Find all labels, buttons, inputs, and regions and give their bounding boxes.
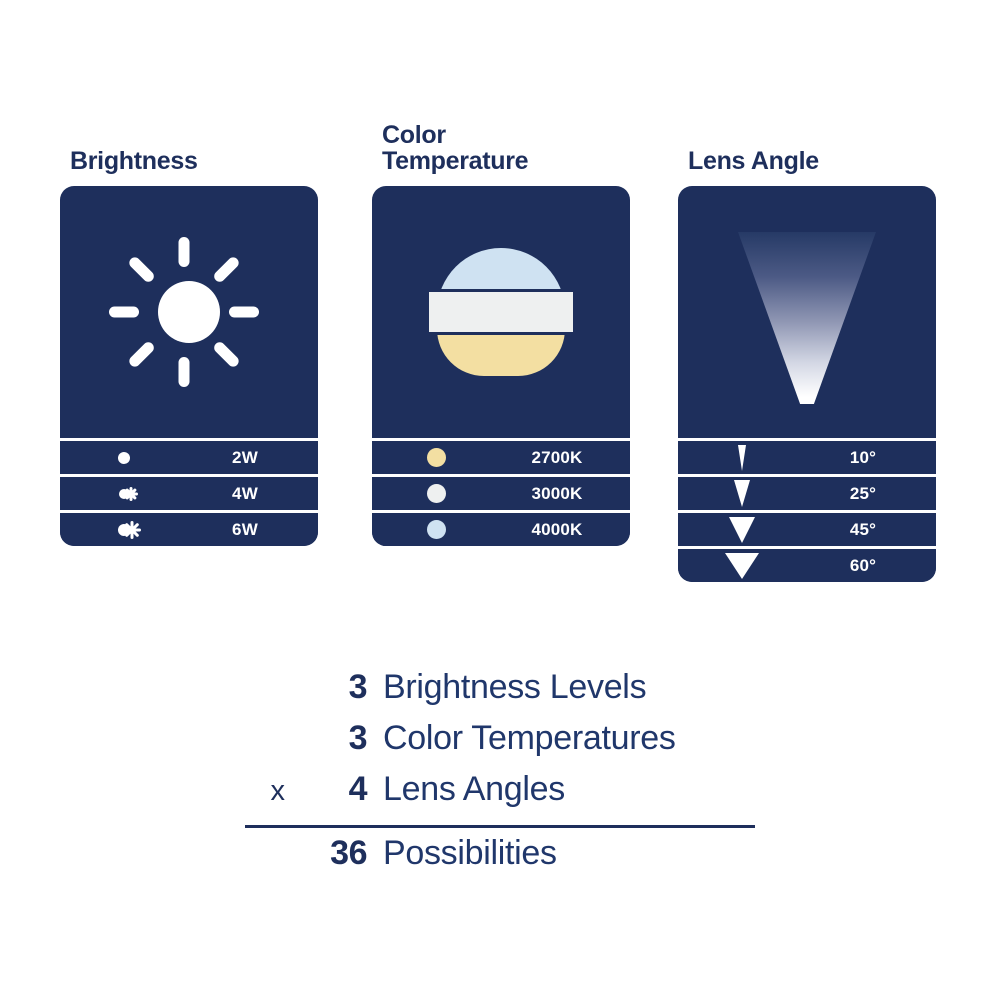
equation-total-number: 36 bbox=[293, 834, 367, 873]
swatch-cool-icon bbox=[372, 513, 500, 546]
table-row[interactable]: 2W bbox=[60, 438, 318, 474]
row-label: 2W bbox=[188, 448, 318, 468]
table-row[interactable]: 45° bbox=[678, 510, 936, 546]
equation-number: 3 bbox=[293, 668, 367, 707]
card-body-brightness: 2W bbox=[60, 186, 318, 546]
equation-line: 3 Brightness Levels bbox=[245, 668, 755, 719]
card-body-lens-angle: 10° 25° 45° bbox=[678, 186, 936, 582]
summary-equation: 3 Brightness Levels 3 Color Temperatures… bbox=[245, 668, 755, 885]
equation-total-line: 36 Possibilities bbox=[245, 834, 755, 885]
card-art-color-temperature bbox=[372, 186, 630, 438]
dot-shape bbox=[118, 452, 130, 464]
card-art-lens-angle bbox=[678, 186, 936, 438]
card-title-lens-angle: Lens Angle bbox=[688, 148, 936, 174]
table-row[interactable]: 10° bbox=[678, 438, 936, 474]
card-lens-angle: Lens Angle 10° 25° bbox=[678, 148, 936, 582]
table-row[interactable]: 3000K bbox=[372, 474, 630, 510]
swatch-warm-icon bbox=[372, 441, 500, 474]
beam-25-triangle-icon bbox=[678, 477, 806, 510]
row-label: 6W bbox=[188, 520, 318, 540]
sun-core bbox=[158, 281, 220, 343]
circle-neutral-band bbox=[429, 289, 573, 335]
equation-line: x 4 Lens Angles bbox=[245, 770, 755, 821]
beam-cone-icon bbox=[738, 232, 876, 404]
row-label: 45° bbox=[806, 520, 936, 540]
row-label: 25° bbox=[806, 484, 936, 504]
row-label: 3000K bbox=[500, 484, 630, 504]
table-row[interactable]: 4W bbox=[60, 474, 318, 510]
equation-number: 3 bbox=[293, 719, 367, 758]
equation-line: 3 Color Temperatures bbox=[245, 719, 755, 770]
beam-45-triangle-icon bbox=[678, 513, 806, 546]
sun-ray bbox=[211, 255, 240, 284]
table-row[interactable]: 60° bbox=[678, 546, 936, 582]
spec-rows-brightness: 2W bbox=[60, 438, 318, 546]
card-body-color-temperature: 2700K 3000K 4000K bbox=[372, 186, 630, 546]
brightness-medium-sun-icon bbox=[60, 477, 188, 510]
equation-operator: x bbox=[245, 775, 293, 808]
color-temperature-circle-icon bbox=[437, 248, 565, 376]
sun-ray bbox=[109, 307, 139, 318]
sun-ray bbox=[178, 237, 189, 267]
row-label: 60° bbox=[806, 556, 936, 576]
swatch-neutral-icon bbox=[372, 477, 500, 510]
brightness-low-dot-icon bbox=[60, 441, 188, 474]
card-art-brightness bbox=[60, 186, 318, 438]
row-label: 4000K bbox=[500, 520, 630, 540]
beam-60-triangle-icon bbox=[678, 549, 806, 582]
equation-divider bbox=[245, 825, 755, 828]
table-row[interactable]: 4000K bbox=[372, 510, 630, 546]
row-label: 4W bbox=[188, 484, 318, 504]
equation-label: Lens Angles bbox=[367, 770, 565, 809]
sun-ray bbox=[211, 340, 240, 369]
row-label: 10° bbox=[806, 448, 936, 468]
brightness-high-sun-icon bbox=[60, 513, 188, 546]
equation-label: Brightness Levels bbox=[367, 668, 646, 707]
equation-label: Color Temperatures bbox=[367, 719, 676, 758]
spec-rows-lens-angle: 10° 25° 45° bbox=[678, 438, 936, 582]
sun-icon bbox=[114, 237, 264, 387]
card-title-color-temperature: Color Temperature bbox=[382, 122, 630, 174]
sun-ray bbox=[229, 307, 259, 318]
table-row[interactable]: 2700K bbox=[372, 438, 630, 474]
circle-warm-half bbox=[437, 329, 565, 376]
card-title-brightness: Brightness bbox=[70, 148, 318, 174]
row-label: 2700K bbox=[500, 448, 630, 468]
card-brightness: Brightness bbox=[60, 148, 318, 546]
equation-total-label: Possibilities bbox=[367, 834, 557, 873]
table-row[interactable]: 25° bbox=[678, 474, 936, 510]
sun-ray bbox=[127, 255, 156, 284]
equation-number: 4 bbox=[293, 770, 367, 809]
beam-10-triangle-icon bbox=[678, 441, 806, 474]
spec-rows-color-temperature: 2700K 3000K 4000K bbox=[372, 438, 630, 546]
card-color-temperature: Color Temperature 2700K bbox=[372, 122, 630, 546]
sun-ray bbox=[127, 340, 156, 369]
feature-cards: Brightness bbox=[0, 0, 1000, 640]
sun-ray bbox=[178, 357, 189, 387]
table-row[interactable]: 6W bbox=[60, 510, 318, 546]
